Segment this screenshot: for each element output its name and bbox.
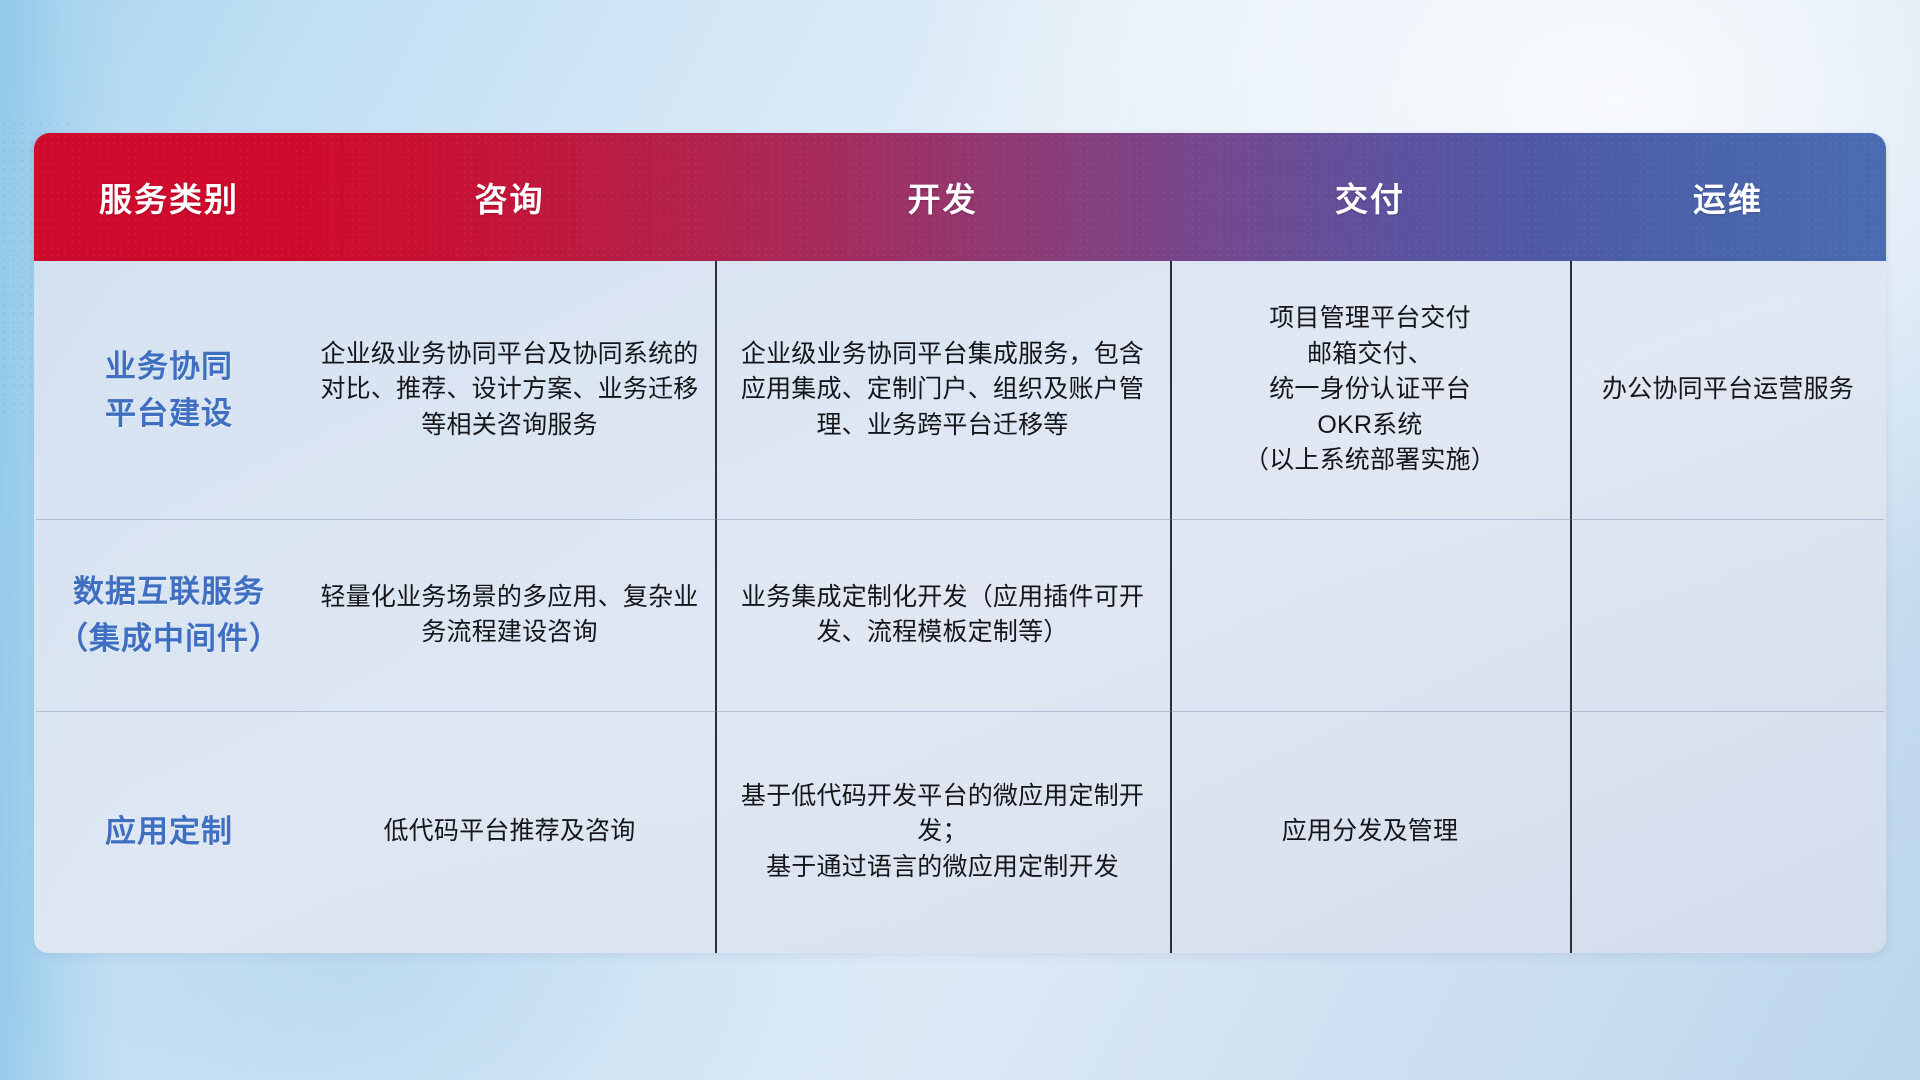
- table-row: 应用定制 低代码平台推荐及咨询 基于低代码开发平台的微应用定制开发；基于通过语言…: [34, 711, 1886, 953]
- table-row: 数据互联服务（集成中间件） 轻量化业务场景的多应用、复杂业务流程建设咨询 业务集…: [34, 519, 1886, 711]
- column-header-development[interactable]: 开发: [715, 133, 1170, 261]
- column-header-delivery[interactable]: 交付: [1170, 133, 1570, 261]
- row-1-category: 业务协同平台建设: [34, 261, 304, 519]
- row-2-consulting: 轻量化业务场景的多应用、复杂业务流程建设咨询: [304, 519, 715, 711]
- row-1-consulting: 企业级业务协同平台及协同系统的对比、推荐、设计方案、业务迁移等相关咨询服务: [304, 261, 715, 519]
- table-head: 服务类别 咨询 开发 交付 运维: [34, 133, 1886, 261]
- table-header-row: 服务类别 咨询 开发 交付 运维: [34, 133, 1886, 261]
- text-line: 业务协同: [48, 343, 290, 390]
- text-line: （集成中间件）: [48, 615, 290, 662]
- row-1-development: 企业级业务协同平台集成服务，包含应用集成、定制门户、组织及账户管理、业务跨平台迁…: [715, 261, 1170, 519]
- column-header-operations[interactable]: 运维: [1570, 133, 1886, 261]
- row-1-operations: 办公协同平台运营服务: [1570, 261, 1886, 519]
- text-line: OKR系统: [1184, 408, 1556, 444]
- text-line: 统一身份认证平台: [1184, 372, 1556, 408]
- row-2-operations: [1570, 519, 1886, 711]
- column-header-category[interactable]: 服务类别: [34, 133, 304, 261]
- service-table: 服务类别 咨询 开发 交付 运维 业务协同平台建设 企业级业务协同平台及协同系统…: [34, 133, 1886, 953]
- text-line: 数据互联服务: [48, 568, 290, 615]
- text-line: 基于通过语言的微应用定制开发: [729, 850, 1156, 886]
- row-2-delivery: [1170, 519, 1570, 711]
- row-2-category: 数据互联服务（集成中间件）: [34, 519, 304, 711]
- text-line: 平台建设: [48, 390, 290, 437]
- text-line: 应用定制: [48, 808, 290, 855]
- text-line: 基于低代码开发平台的微应用定制开发；: [729, 779, 1156, 850]
- column-header-consulting[interactable]: 咨询: [304, 133, 715, 261]
- row-1-delivery: 项目管理平台交付邮箱交付、统一身份认证平台OKR系统（以上系统部署实施）: [1170, 261, 1570, 519]
- row-3-consulting: 低代码平台推荐及咨询: [304, 711, 715, 953]
- table-body: 业务协同平台建设 企业级业务协同平台及协同系统的对比、推荐、设计方案、业务迁移等…: [34, 261, 1886, 953]
- text-line: 邮箱交付、: [1184, 337, 1556, 373]
- service-matrix-table: 服务类别 咨询 开发 交付 运维 业务协同平台建设 企业级业务协同平台及协同系统…: [34, 133, 1886, 953]
- table-row: 业务协同平台建设 企业级业务协同平台及协同系统的对比、推荐、设计方案、业务迁移等…: [34, 261, 1886, 519]
- row-3-delivery: 应用分发及管理: [1170, 711, 1570, 953]
- text-line: （以上系统部署实施）: [1184, 443, 1556, 479]
- text-line: 项目管理平台交付: [1184, 301, 1556, 337]
- row-3-category: 应用定制: [34, 711, 304, 953]
- row-3-operations: [1570, 711, 1886, 953]
- row-3-development: 基于低代码开发平台的微应用定制开发；基于通过语言的微应用定制开发: [715, 711, 1170, 953]
- row-2-development: 业务集成定制化开发（应用插件可开发、流程模板定制等）: [715, 519, 1170, 711]
- slide-canvas: 服务类别 咨询 开发 交付 运维 业务协同平台建设 企业级业务协同平台及协同系统…: [0, 0, 1920, 1080]
